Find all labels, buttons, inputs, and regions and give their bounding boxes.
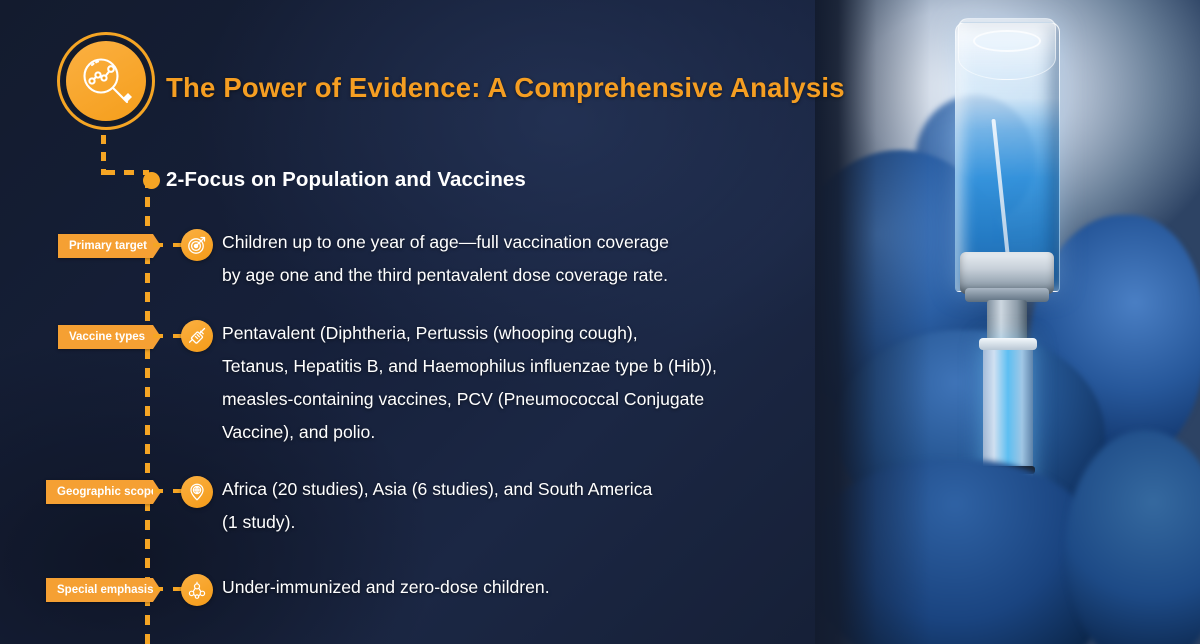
timeline-stub-horizontal [105,170,149,175]
row-line: Children up to one year of age—full vacc… [222,226,669,259]
row-line: Tetanus, Hepatitis B, and Haemophilus in… [222,350,717,383]
tag-primary-target: Primary target [58,234,153,258]
tag-special-emphasis: Special emphasis [46,578,153,602]
row-line: (1 study). [222,506,652,539]
connector-dash [153,587,183,591]
tag-vaccine-types: Vaccine types [58,325,153,349]
magnifier-chart-icon [66,41,146,121]
photo-gradient-overlay [815,0,1200,644]
syringe-icon [181,320,213,352]
row-text-special-emphasis: Under-immunized and zero-dose children. [222,571,550,604]
row-line: Pentavalent (Diphtheria, Pertussis (whoo… [222,317,717,350]
section-subtitle: 2-Focus on Population and Vaccines [166,168,526,192]
row-text-geographic-scope: Africa (20 studies), Asia (6 studies), a… [222,473,652,539]
row-text-primary-target: Children up to one year of age—full vacc… [222,226,669,292]
target-icon [181,229,213,261]
globe-location-icon [181,476,213,508]
network-nodes-icon [181,574,213,606]
row-line: Vaccine), and polio. [222,416,717,449]
row-line: by age one and the third pentavalent dos… [222,259,669,292]
connector-dash [153,334,183,338]
infographic-canvas: The Power of Evidence: A Comprehensive A… [0,0,1200,644]
connector-dash [153,489,183,493]
timeline-stub-vertical [101,135,106,175]
row-line: Under-immunized and zero-dose children. [222,571,550,604]
page-title: The Power of Evidence: A Comprehensive A… [166,72,845,104]
vaccine-photo [815,0,1200,644]
header-badge [57,32,155,130]
connector-dash [153,243,183,247]
tag-geographic-scope: Geographic scope [46,480,153,504]
row-line: measles-containing vaccines, PCV (Pneumo… [222,383,717,416]
row-line: Africa (20 studies), Asia (6 studies), a… [222,473,652,506]
row-text-vaccine-types: Pentavalent (Diphtheria, Pertussis (whoo… [222,317,717,449]
